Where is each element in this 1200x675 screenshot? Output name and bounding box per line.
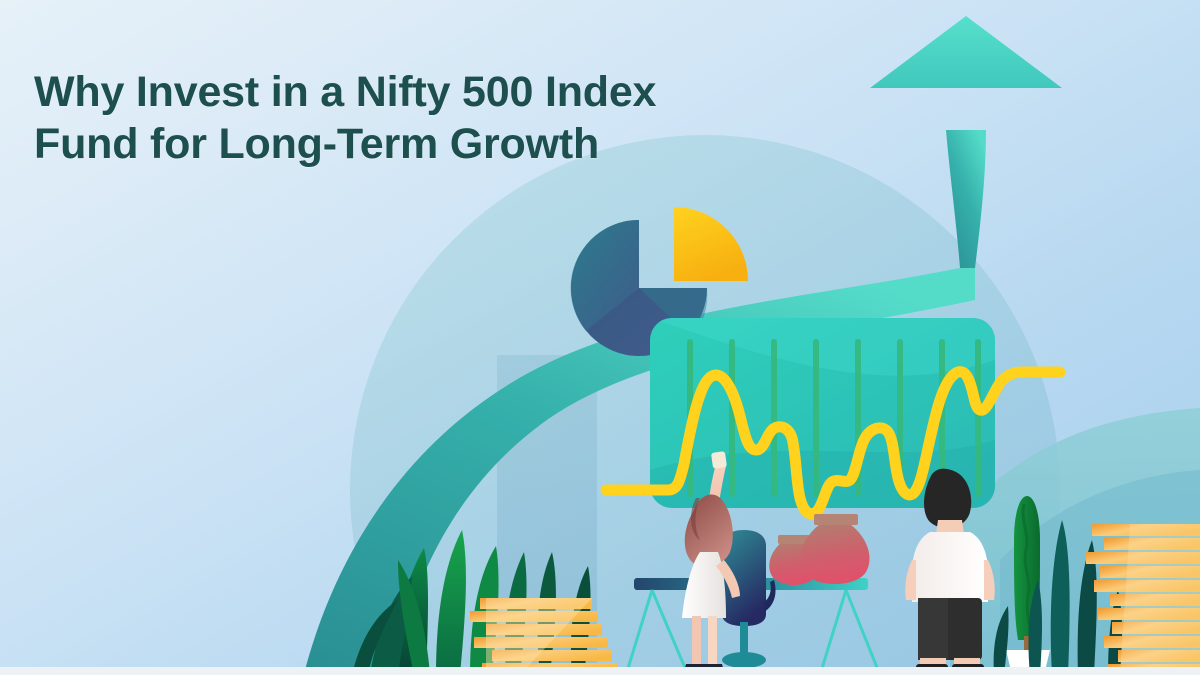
illustration-canvas: Why Invest in a Nifty 500 Index Fund for… [0, 0, 1200, 675]
potted-plant [1006, 496, 1050, 675]
bottom-strip [0, 667, 1200, 675]
page-title: Why Invest in a Nifty 500 Index Fund for… [34, 66, 794, 170]
coin-stack-left [470, 598, 618, 675]
vase-large [801, 514, 870, 584]
man-observer [905, 469, 995, 674]
coin-stack-right [1086, 524, 1200, 675]
